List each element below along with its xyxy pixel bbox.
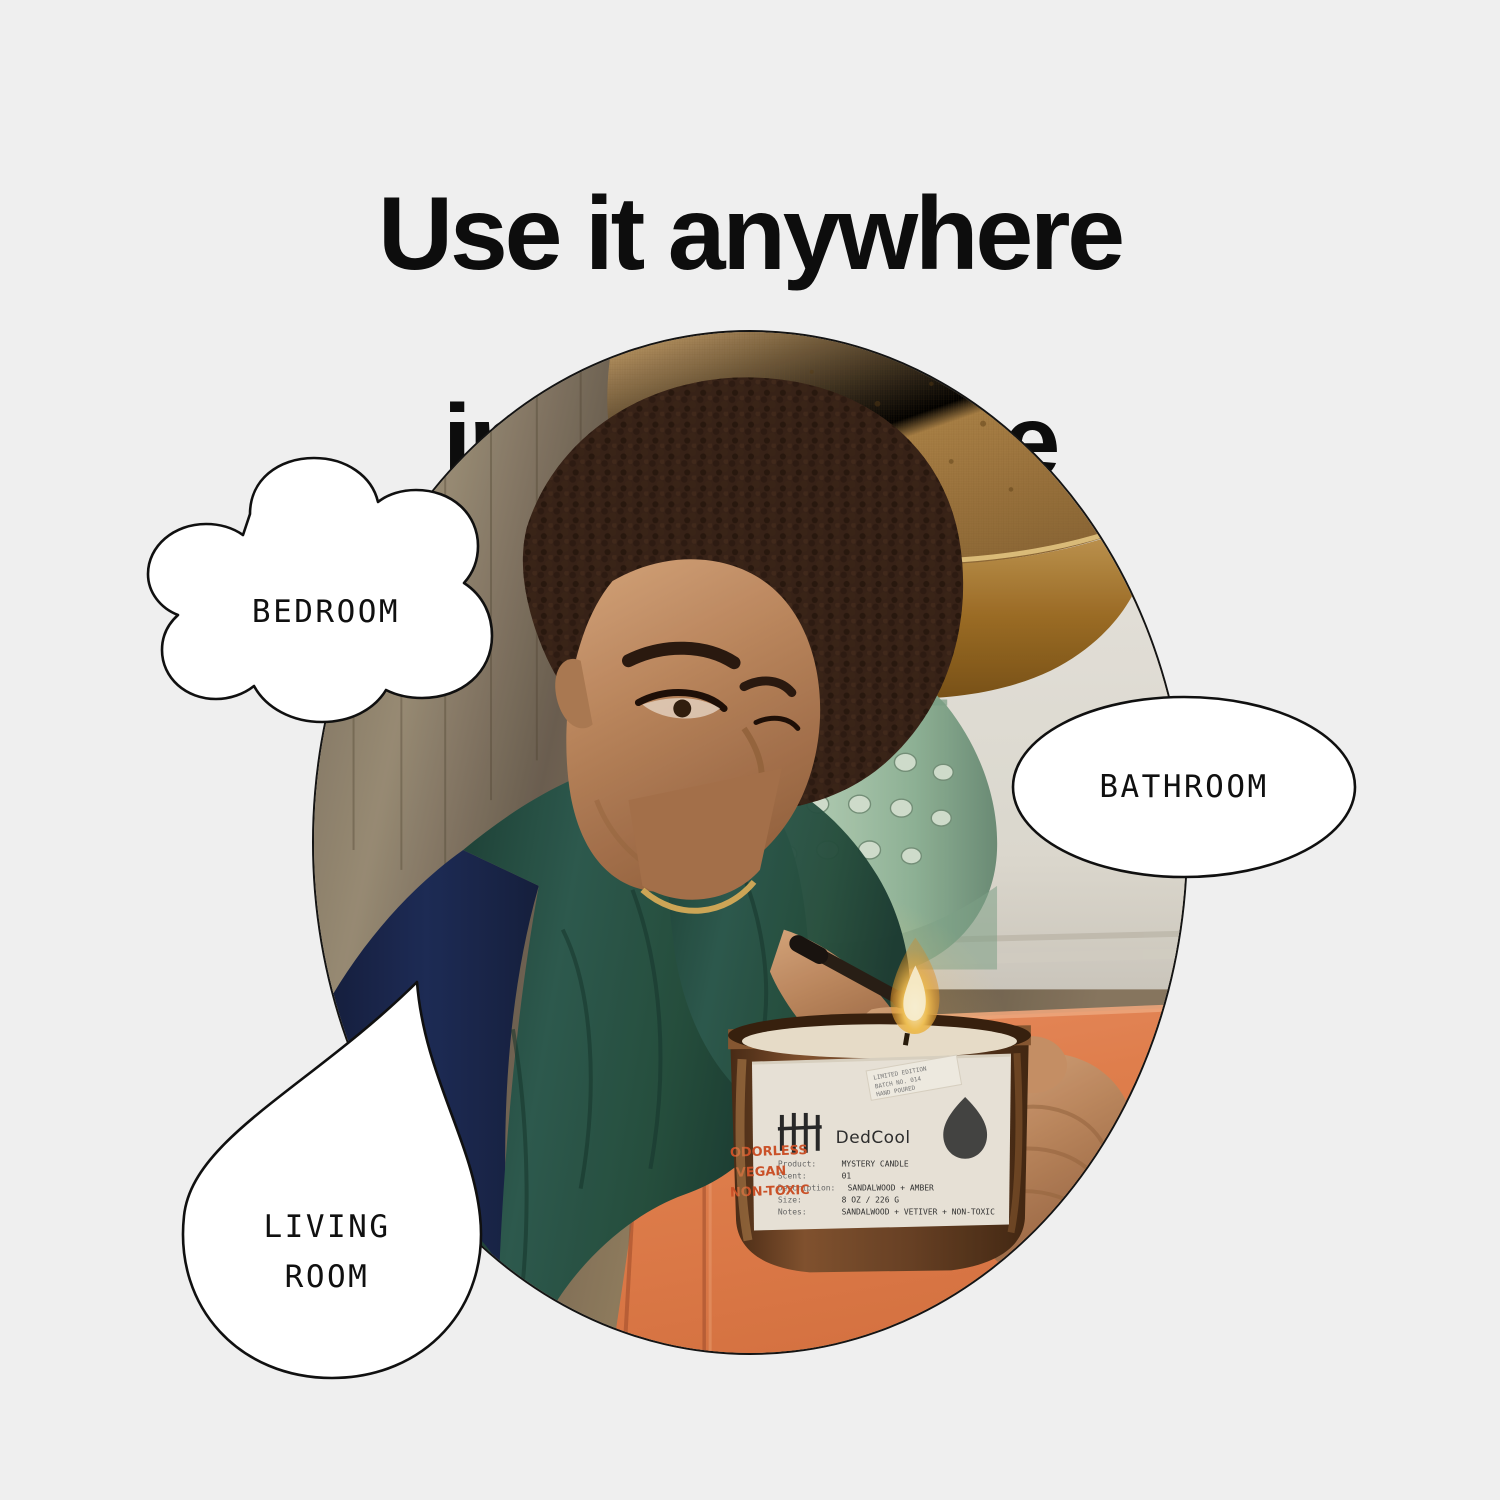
headline-line-1: Use it anywhere (0, 182, 1500, 286)
badge-bedroom[interactable]: BEDROOM (146, 456, 494, 724)
badge-bathroom-label: BATHROOM (1099, 769, 1268, 805)
badge-living-room[interactable]: LIVING ROOM (172, 978, 490, 1382)
badge-bathroom[interactable]: BATHROOM (1010, 694, 1358, 880)
badge-bedroom-label: BEDROOM (252, 594, 400, 630)
poster-canvas: Use it anywhere in your home (0, 0, 1500, 1500)
badge-living-room-label: LIVING ROOM (264, 1202, 391, 1302)
cloud-icon (146, 456, 494, 724)
droplet-icon (172, 978, 490, 1382)
